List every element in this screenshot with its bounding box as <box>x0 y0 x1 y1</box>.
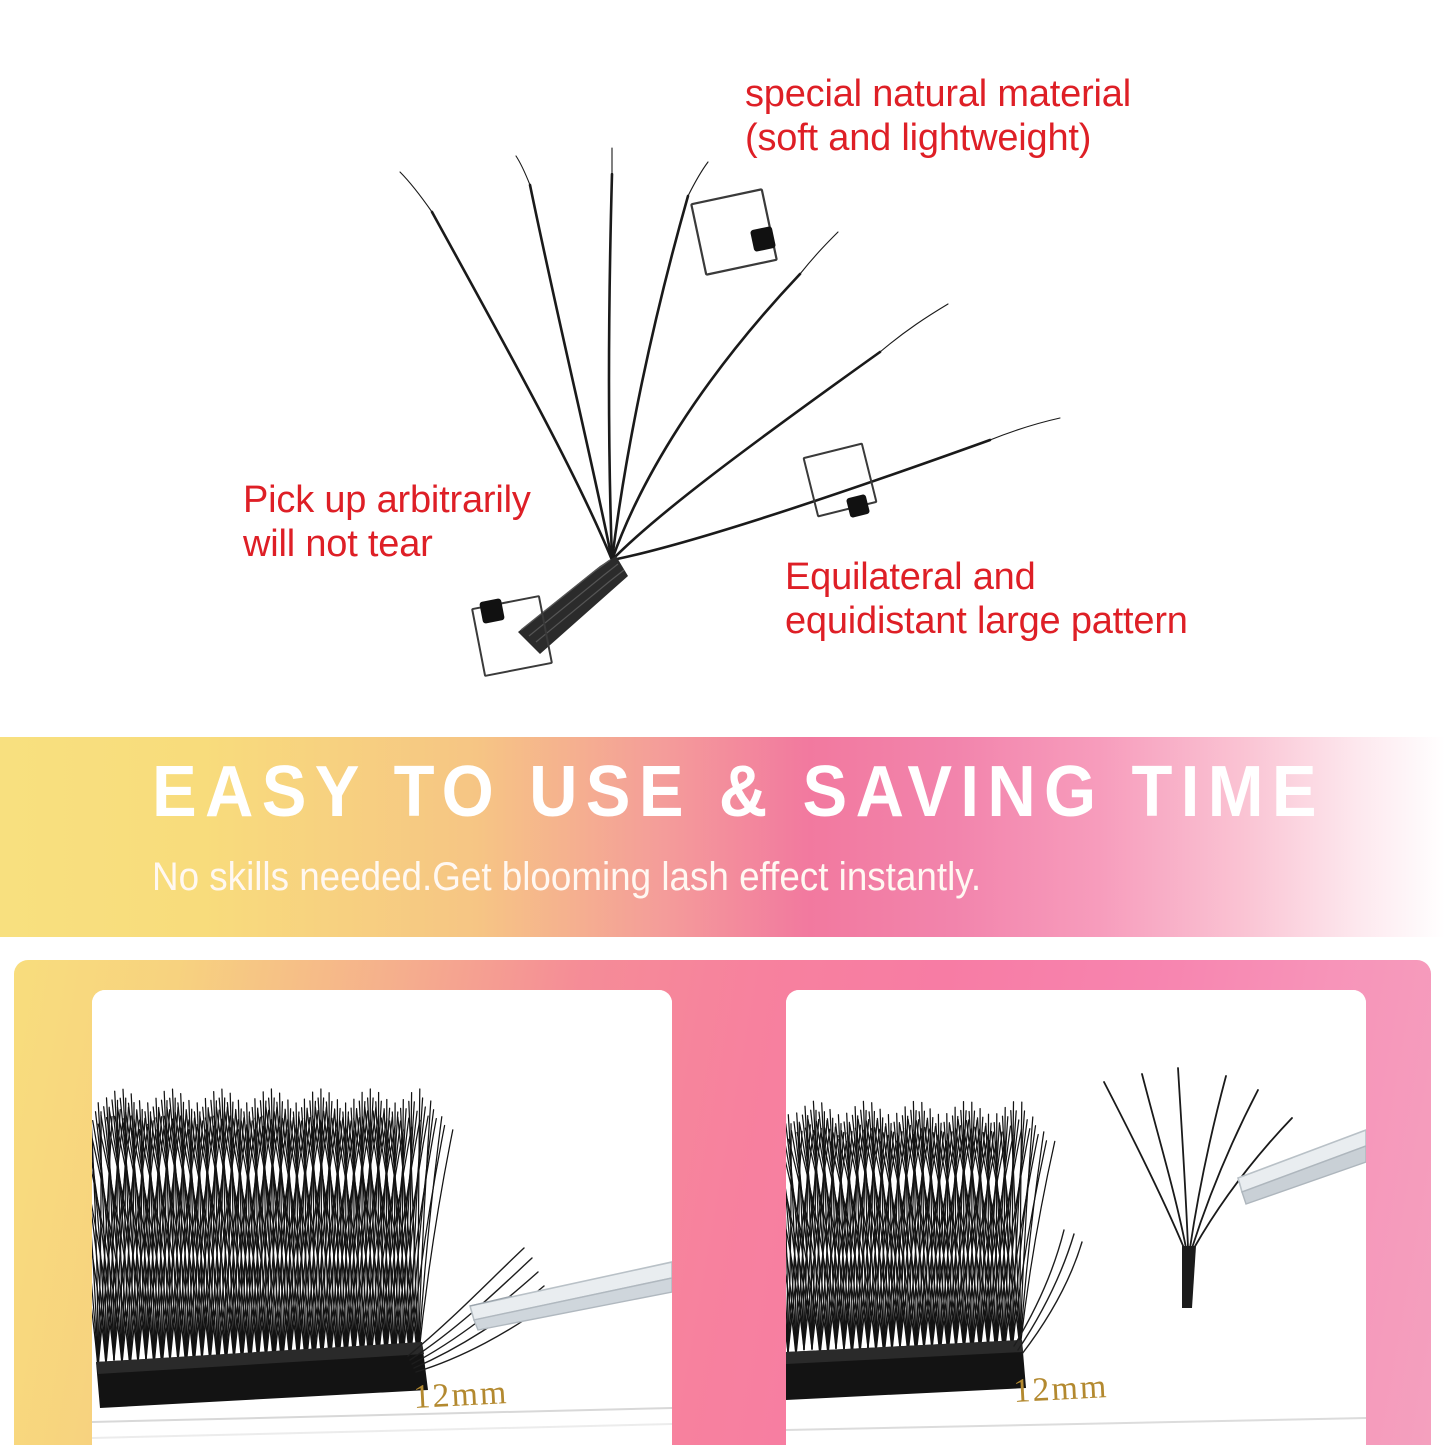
easy-to-use-banner: EASY TO USE & SAVING TIME No skills need… <box>0 737 1445 937</box>
callout-equilateral-equidistant: Equilateral and equidistant large patter… <box>785 555 1188 643</box>
lash-fan-illustration <box>0 0 1445 737</box>
diagram-section: special natural material (soft and light… <box>0 0 1445 737</box>
callout-pick-up-arbitrarily: Pick up arbitrarily will not tear <box>243 478 531 566</box>
product-photo-left: 12mm <box>92 990 672 1445</box>
product-infographic: special natural material (soft and light… <box>0 0 1445 1445</box>
lash-tray-photo-left: 12mm <box>92 990 672 1445</box>
fan-base <box>518 556 628 654</box>
banner-subheadline: No skills needed.Get blooming lash effec… <box>152 855 981 900</box>
product-photo-right: 12mm <box>786 990 1366 1445</box>
callout-marker-middle <box>804 444 877 518</box>
product-photo-panel: 12mm <box>14 960 1431 1445</box>
lash-tray-photo-right: 12mm <box>786 990 1366 1445</box>
callout-special-natural-material: special natural material (soft and light… <box>745 72 1131 160</box>
tray-size-label-right: 12mm <box>1012 1368 1109 1410</box>
banner-headline: EASY TO USE & SAVING TIME <box>152 751 1325 833</box>
tray-size-label-left: 12mm <box>412 1374 509 1416</box>
callout-marker-top <box>691 189 776 274</box>
